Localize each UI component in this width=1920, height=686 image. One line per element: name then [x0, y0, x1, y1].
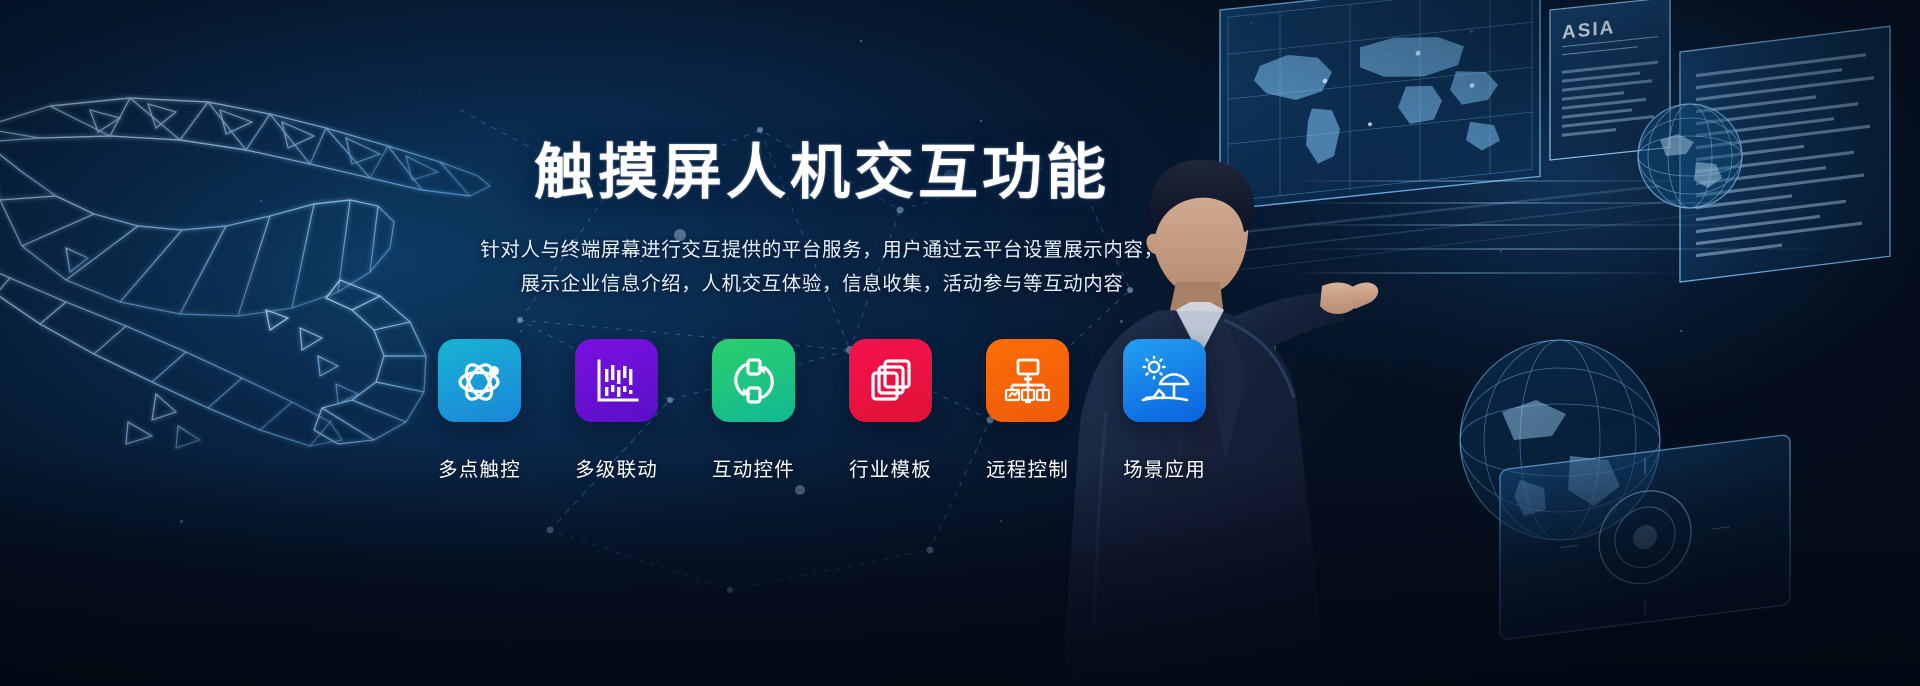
- sync-squares-icon[interactable]: [712, 339, 795, 422]
- feature-item-3[interactable]: 互动控件: [706, 339, 801, 482]
- subtitle-line-1: 针对人与终端屏幕进行交互提供的平台服务，用户通过云平台设置展示内容，: [0, 233, 1782, 267]
- subtitle-line-2: 展示企业信息介绍，人机交互体验，信息收集，活动参与等互动内容: [0, 267, 1782, 301]
- beach-scene-icon[interactable]: [1123, 339, 1206, 422]
- feature-label-4: 行业模板: [849, 453, 932, 482]
- feature-item-6[interactable]: 场景应用: [1117, 339, 1212, 482]
- feature-label-5: 远程控制: [986, 453, 1069, 482]
- atom-icon[interactable]: [438, 339, 521, 422]
- feature-item-5[interactable]: 远程控制: [980, 339, 1075, 482]
- feature-label-1: 多点触控: [438, 453, 521, 482]
- hero-banner: ASIA: [0, 0, 1920, 686]
- page-title: 触摸屏人机交互功能: [0, 143, 1782, 203]
- feature-label-2: 多级联动: [575, 453, 658, 482]
- feature-item-2[interactable]: 多级联动: [569, 339, 664, 482]
- stacked-cards-icon[interactable]: [849, 339, 932, 422]
- bar-chart-icon[interactable]: [575, 339, 658, 422]
- feature-icon-row: 多点触控 多级联动: [0, 339, 1782, 482]
- feature-label-6: 场景应用: [1123, 453, 1206, 482]
- feature-item-1[interactable]: 多点触控: [432, 339, 527, 482]
- page-subtitle: 针对人与终端屏幕进行交互提供的平台服务，用户通过云平台设置展示内容， 展示企业信…: [0, 233, 1782, 301]
- remote-network-icon[interactable]: [986, 339, 1069, 422]
- feature-item-4[interactable]: 行业模板: [843, 339, 938, 482]
- feature-label-3: 互动控件: [712, 453, 795, 482]
